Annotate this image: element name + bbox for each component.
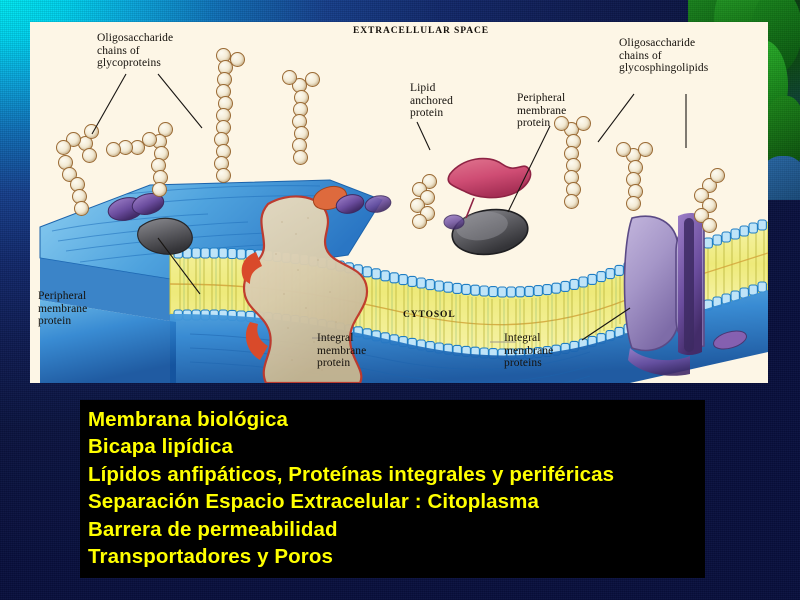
label-oligosaccharide-glycosphingolipids: Oligosaccharide chains of glycosphingoli… bbox=[619, 37, 708, 75]
slide-canvas: Oligosaccharide chains of glycoproteins … bbox=[0, 0, 800, 600]
caption-line: Barrera de permeabilidad bbox=[88, 516, 705, 543]
caption-box: Membrana biológica Bicapa lipídica Lípid… bbox=[80, 400, 705, 578]
label-extracellular-space: EXTRACELLULAR SPACE bbox=[353, 26, 489, 37]
membrane-diagram-panel: Oligosaccharide chains of glycoproteins … bbox=[30, 22, 768, 383]
label-peripheral-membrane-protein-top: Peripheral membrane protein bbox=[517, 92, 566, 130]
fluid-mosaic-membrane-illustration bbox=[30, 22, 768, 383]
caption-line: Lípidos anfipáticos, Proteínas integrale… bbox=[88, 461, 705, 488]
caption-line: Membrana biológica bbox=[88, 406, 705, 433]
label-oligosaccharide-glycoproteins: Oligosaccharide chains of glycoproteins bbox=[97, 32, 173, 70]
label-integral-membrane-proteins-right: Integral membrane proteins bbox=[504, 332, 553, 370]
label-cytosol: CYTOSOL bbox=[403, 310, 456, 321]
label-integral-membrane-protein-left: Integral membrane protein bbox=[317, 332, 366, 370]
caption-line: Transportadores y Poros bbox=[88, 543, 705, 570]
label-peripheral-membrane-protein-left: Peripheral membrane protein bbox=[38, 290, 87, 328]
caption-list: Membrana biológica Bicapa lipídica Lípid… bbox=[80, 400, 705, 570]
caption-line: Bicapa lipídica bbox=[88, 433, 705, 460]
caption-line: Separación Espacio Extracelular : Citopl… bbox=[88, 488, 705, 515]
label-lipid-anchored-protein: Lipid anchored protein bbox=[410, 82, 453, 120]
